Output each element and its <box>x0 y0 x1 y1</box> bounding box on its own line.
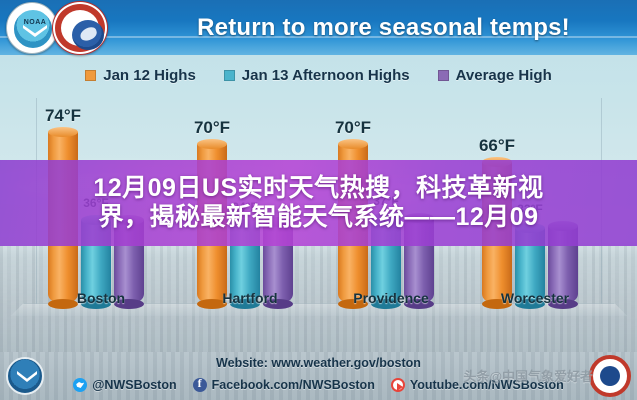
bar-cap <box>197 139 227 149</box>
nws-logo-ring <box>55 4 105 52</box>
legend-swatch-purple <box>438 70 449 81</box>
legend-label-jan12: Jan 12 Highs <box>103 67 196 84</box>
legend-swatch-orange <box>85 70 96 81</box>
national-weather-service-logo <box>52 1 108 55</box>
bar-cap <box>338 139 368 149</box>
chart-legend: Jan 12 Highs Jan 13 Afternoon Highs Aver… <box>0 60 637 90</box>
value-label-providence-jan12: 70°F <box>323 118 383 138</box>
social-link-facebook[interactable]: Facebook.com/NWSBoston <box>193 378 375 392</box>
nws-logo-core <box>72 20 104 50</box>
legend-label-jan13: Jan 13 Afternoon Highs <box>242 67 410 84</box>
bar-cap <box>48 127 78 137</box>
facebook-icon <box>193 378 207 392</box>
overlay-headline-line1: 12月09日US实时天气热搜，科技革新视 <box>93 174 543 203</box>
category-label-hartford: Hartford <box>177 290 323 306</box>
weather-graphic: Return to more seasonal temps! NOAA Jan … <box>0 0 637 400</box>
page-title: Return to more seasonal temps! <box>130 0 637 55</box>
social-link-twitter[interactable]: @NWSBoston <box>73 378 176 392</box>
youtube-icon <box>391 378 405 392</box>
watermark-text: 头条@中国气象爱好者 <box>463 366 593 385</box>
social-label-twitter: @NWSBoston <box>92 378 176 392</box>
value-label-worcester-jan12: 66°F <box>467 136 527 156</box>
noaa-logo-disc: NOAA <box>12 8 54 50</box>
noaa-gull-icon <box>23 25 47 37</box>
legend-label-average: Average High <box>456 67 552 84</box>
noaa-logo-text: NOAA <box>14 19 56 26</box>
legend-item-average: Average High <box>438 67 552 84</box>
category-label-boston: Boston <box>28 290 174 306</box>
noaa-logo: NOAA <box>6 2 58 54</box>
social-label-facebook: Facebook.com/NWSBoston <box>212 378 375 392</box>
twitter-icon <box>73 378 87 392</box>
value-label-hartford-jan12: 70°F <box>182 118 242 138</box>
legend-swatch-cyan <box>224 70 235 81</box>
category-label-providence: Providence <box>318 290 464 306</box>
overlay-headline: 12月09日US实时天气热搜，科技革新视 界，揭秘最新智能天气系统——12月09 <box>0 160 637 246</box>
category-label-worcester: Worcester <box>462 290 608 306</box>
value-label-boston-jan12: 74°F <box>33 106 93 126</box>
legend-item-jan12: Jan 12 Highs <box>85 67 196 84</box>
legend-item-jan13: Jan 13 Afternoon Highs <box>224 67 410 84</box>
overlay-headline-line2: 界，揭秘最新智能天气系统——12月09 <box>98 203 538 232</box>
